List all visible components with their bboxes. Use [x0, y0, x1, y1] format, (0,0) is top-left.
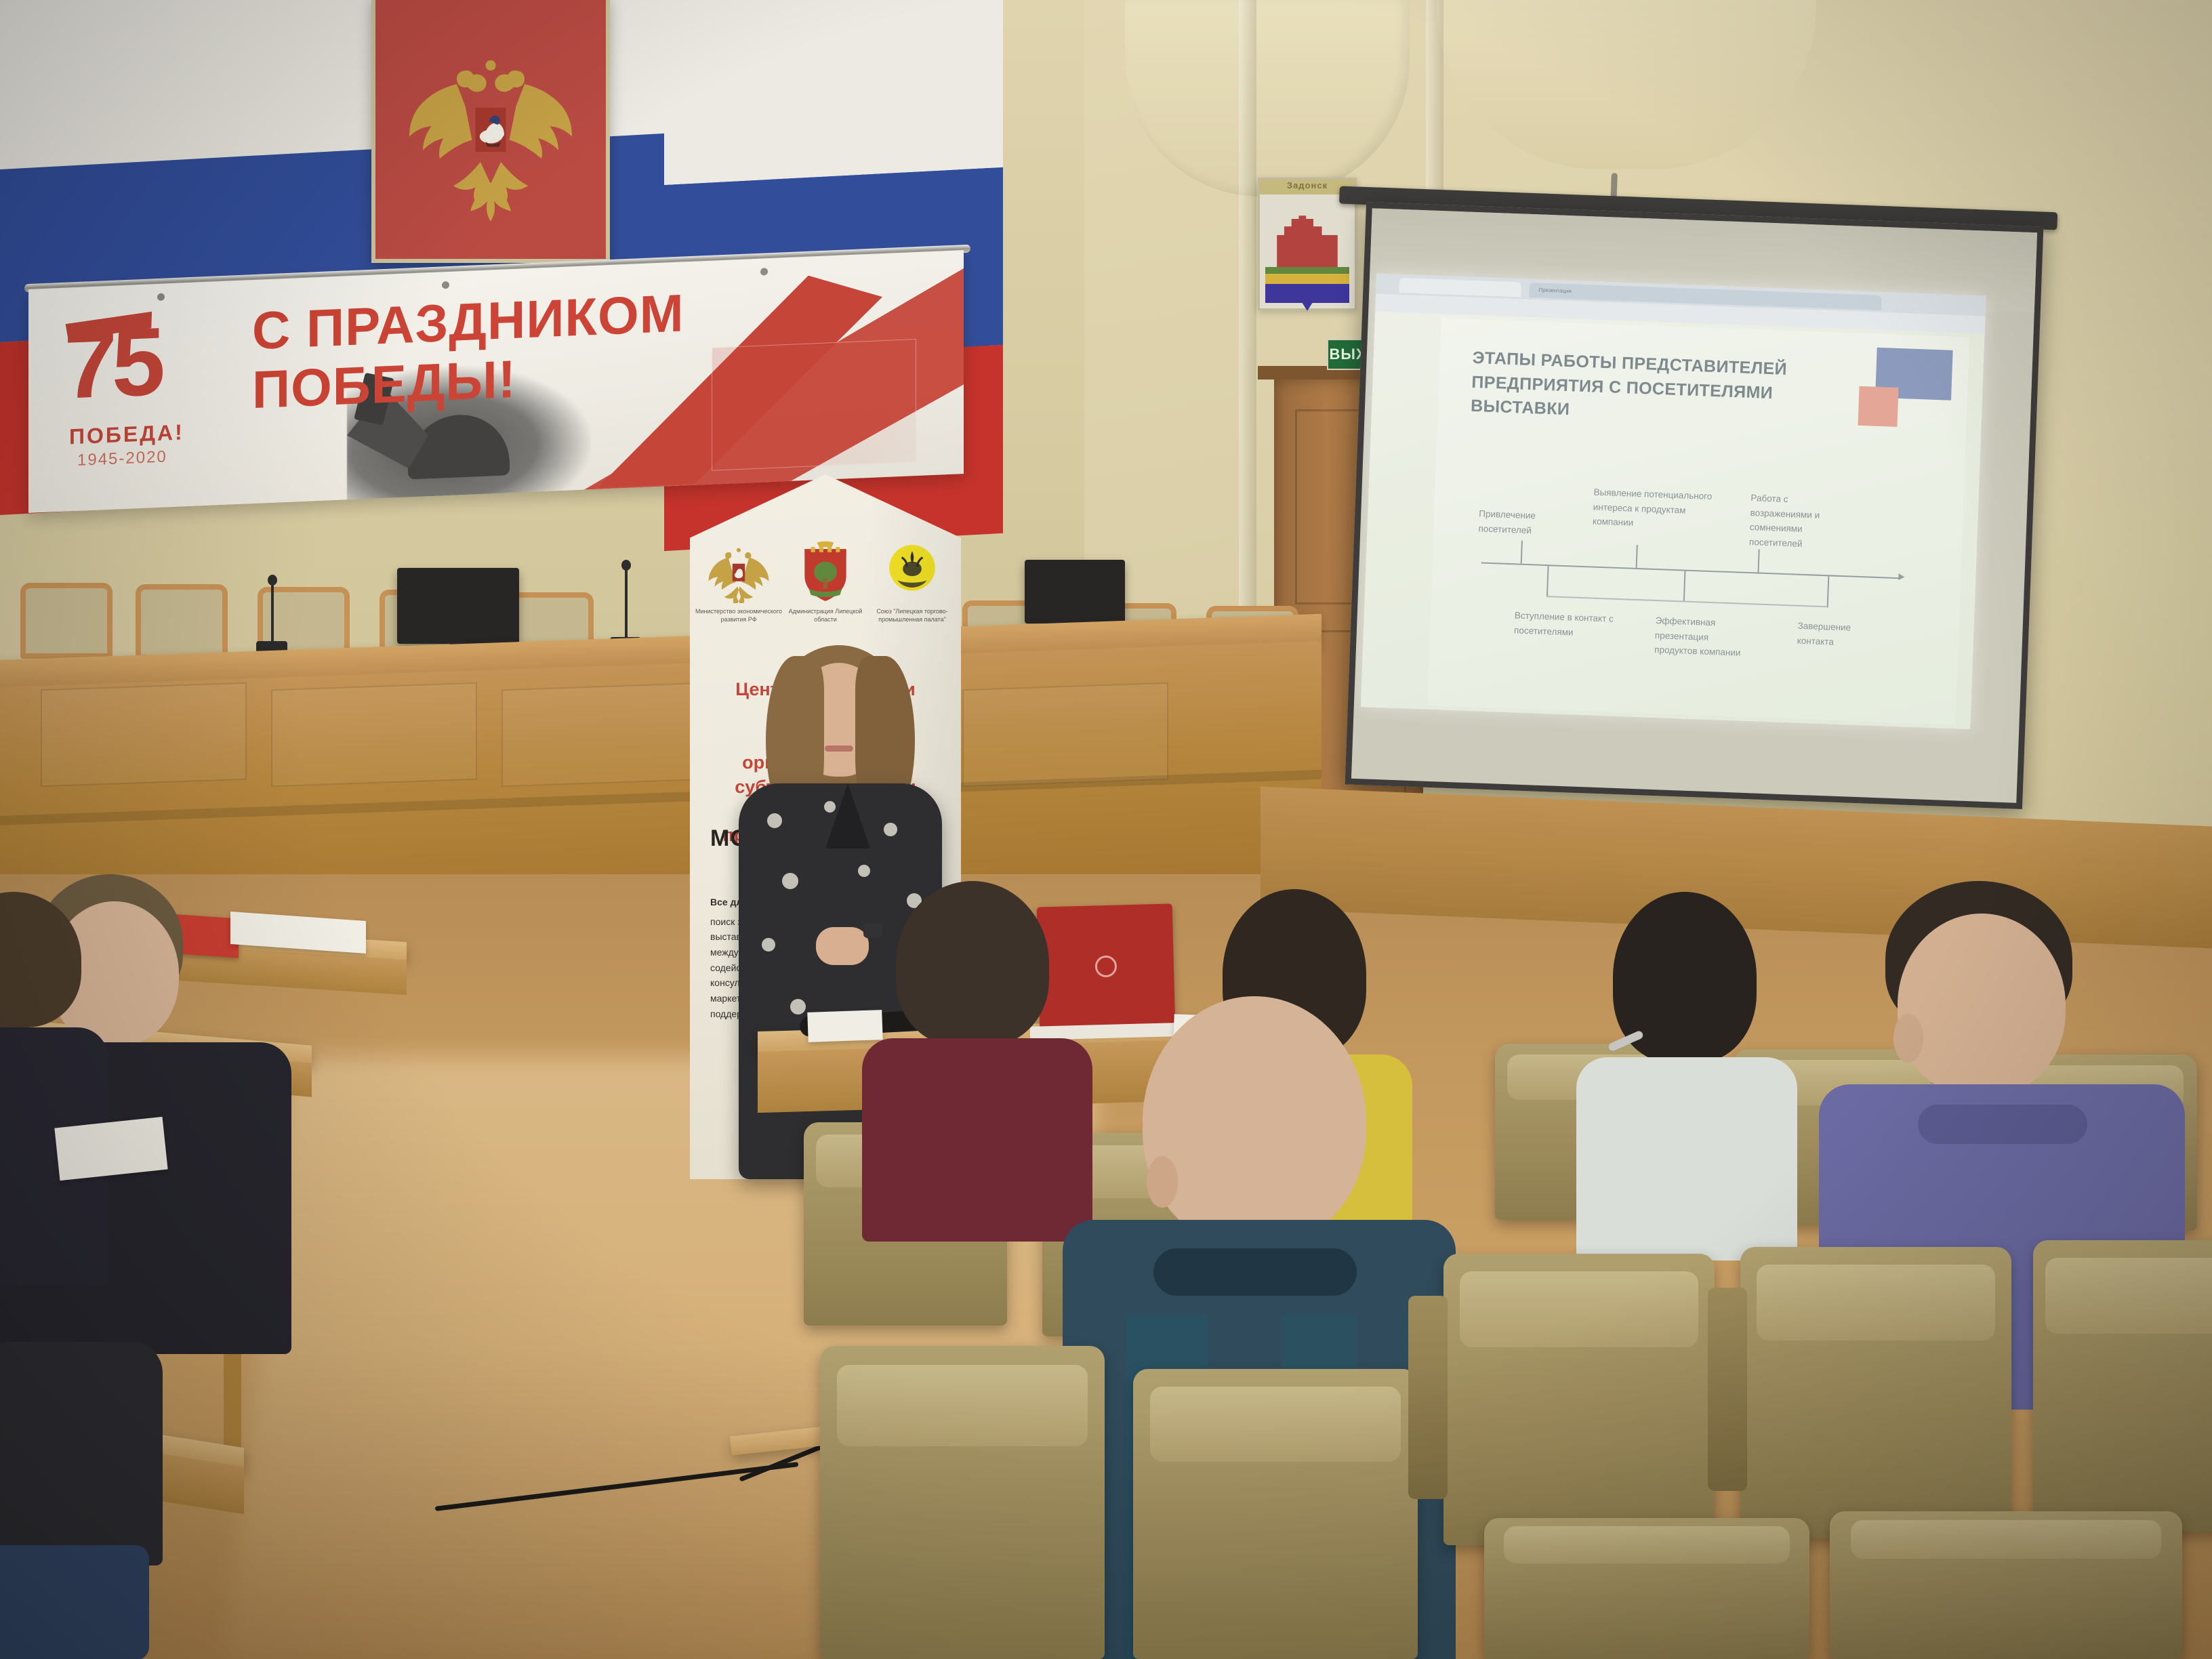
timeline-label-below-2: Эффективная презентация продуктов компан…	[1654, 613, 1745, 661]
timeline-arrow-head	[1898, 573, 1904, 580]
auditorium-seat[interactable]	[1443, 1254, 1715, 1545]
presidium-chair[interactable]	[136, 584, 228, 660]
timeline-label-below-1: Вступление в контакт с посетителями	[1514, 608, 1623, 641]
wall-pilaster-right	[1426, 0, 1443, 217]
auditorium-seat[interactable]	[1830, 1511, 2182, 1659]
browser-tab-inactive[interactable]	[1399, 278, 1521, 298]
crest-fortress-tower-icon	[1277, 216, 1338, 270]
victory-anniversary-number: 75	[64, 314, 160, 414]
hp-logo	[1095, 956, 1118, 978]
auditorium-seat[interactable]	[1133, 1369, 1418, 1659]
victory-75-logo: 75 ПОБЕДА! 1945-2020	[64, 305, 233, 454]
shirt-collar	[1918, 1105, 2087, 1144]
seat-armrest	[1708, 1288, 1747, 1491]
victory-day-banner: 75 ПОБЕДА! 1945-2020 С ПРАЗДНИКОМ ПОБЕДЫ…	[28, 250, 964, 513]
presidium-chair[interactable]	[20, 583, 112, 659]
screen-surface: Презентация docs/prezentaciya-etapy-rabo…	[1345, 202, 2044, 809]
projection-screen: Презентация docs/prezentaciya-etapy-rabo…	[1345, 202, 2044, 809]
conference-hall-photo: 75 ПОБЕДА! 1945-2020 С ПРАЗДНИКОМ ПОБЕДЫ…	[0, 0, 2212, 1659]
timeline-label-below-3: Завершение контакта	[1797, 619, 1883, 651]
victory-logo-word: ПОБЕДА!	[69, 421, 184, 447]
presenter-clasped-hands	[816, 927, 869, 965]
auditorium-seat[interactable]	[1740, 1247, 2011, 1538]
audience-ear	[1893, 1014, 1923, 1063]
auditorium-seat[interactable]	[2033, 1240, 2212, 1532]
slide-accent-square-pink	[1858, 386, 1898, 427]
audience-member	[869, 881, 1086, 1233]
presidium-panel	[962, 682, 1168, 787]
audience-hair	[896, 881, 1049, 1046]
handout-paper	[54, 1117, 167, 1181]
timeline-tick-up-1	[1521, 541, 1523, 564]
presidium-monitor	[397, 568, 519, 644]
timeline-tick-down-1	[1547, 566, 1549, 597]
gooseneck-microphone	[625, 568, 628, 642]
auditorium-seat[interactable]	[820, 1346, 1105, 1659]
timeline-tick-down-3	[1827, 576, 1830, 607]
audience-head	[1143, 996, 1366, 1247]
audience-member-partial	[0, 1342, 190, 1659]
presidium-panel	[41, 682, 247, 787]
presidium-monitor	[1025, 560, 1125, 623]
audience-hair	[0, 892, 81, 1027]
audience-member	[0, 892, 95, 1271]
banner-map-graphic	[712, 339, 916, 471]
audience-torso	[1576, 1057, 1797, 1261]
projected-image: Презентация docs/prezentaciya-etapy-rabo…	[1361, 274, 1986, 730]
audience-legs	[0, 1545, 149, 1659]
sweater-collar	[1153, 1248, 1357, 1296]
timeline-label-above-3: Работа с возражениями и сомнениями посет…	[1749, 491, 1853, 553]
victory-headline: С ПРАЗДНИКОМ ПОБЕДЫ!	[252, 283, 684, 419]
timeline-tick-down-2	[1683, 571, 1686, 602]
russian-federation-coat-of-arms	[371, 0, 610, 263]
timeline-tick-up-3	[1757, 550, 1759, 573]
presidium-panel	[501, 682, 708, 787]
slide-title: ЭТАПЫ РАБОТЫ ПРЕДСТАВИТЕЛЕЙ ПРЕДПРИЯТИЯ …	[1470, 346, 1791, 430]
presidium-panel	[271, 682, 477, 787]
timeline-axis	[1481, 562, 1902, 579]
timeline-label-above-1: Привлечение посетителей	[1478, 506, 1559, 538]
audience-ear	[1147, 1156, 1178, 1208]
audience-member	[1583, 892, 1786, 1244]
timeline-label-above-2: Выявление потенциального интереса к прод…	[1593, 485, 1713, 533]
victory-years: 1945-2020	[77, 449, 167, 469]
audience-torso	[862, 1038, 1092, 1242]
seat-armrest	[1408, 1296, 1448, 1499]
auditorium-seat[interactable]	[1484, 1518, 1809, 1659]
timeline-tick-up-2	[1636, 545, 1638, 568]
presentation-slide: ЭТАПЫ РАБОТЫ ПРЕДСТАВИТЕЛЕЙ ПРЕДПРИЯТИЯ …	[1427, 318, 1969, 724]
audience-torso	[0, 1342, 163, 1565]
microphone-head	[268, 575, 277, 586]
gooseneck-microphone	[271, 583, 274, 645]
microphone-head	[621, 560, 631, 571]
audience-head	[1898, 914, 2066, 1097]
